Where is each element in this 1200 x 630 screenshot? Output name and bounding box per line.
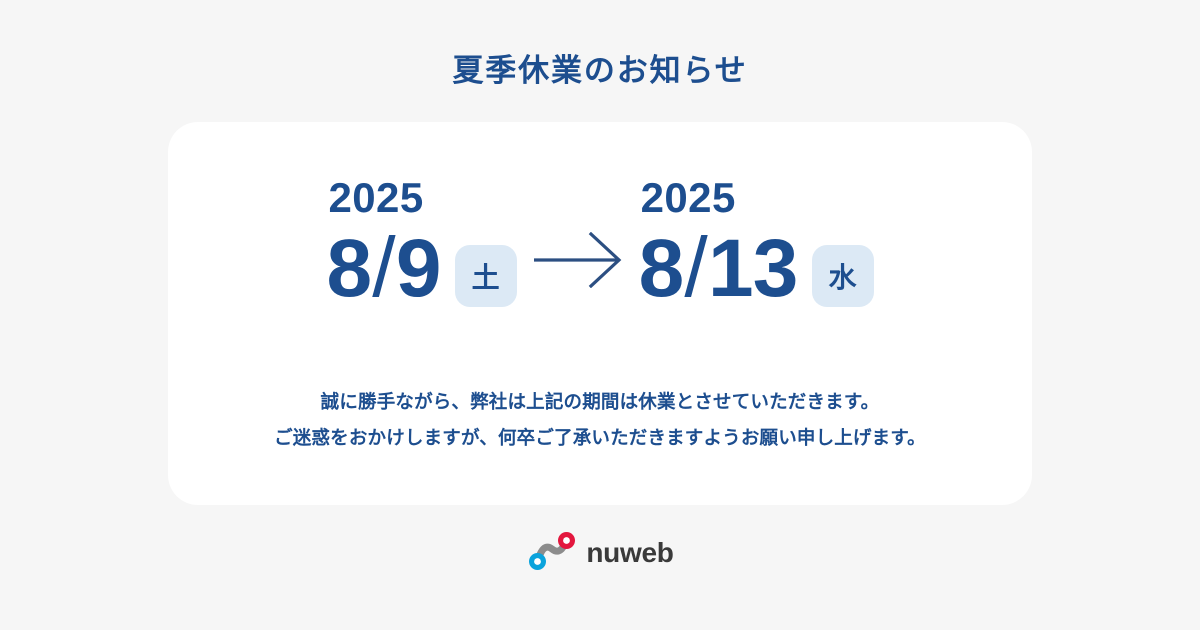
notice-card: 2025 8/9 土 2025 8/13 水 (168, 122, 1032, 505)
end-date-month: 8 (639, 223, 684, 314)
end-date-year: 2025 (639, 177, 736, 219)
nuweb-logo-mark-icon (526, 529, 580, 578)
end-date-main: 8/13 水 (639, 225, 874, 310)
start-date-year: 2025 (326, 177, 423, 219)
end-date: 2025 8/13 水 (639, 177, 874, 310)
nuweb-logo: nuweb (0, 529, 1200, 578)
arrow-right-icon (517, 210, 639, 310)
notice-text: 誠に勝手ながら、弊社は上記の期間は休業とさせていただきます。 ご迷惑をおかけしま… (168, 384, 1032, 456)
start-date-month-day: 8/9 (326, 225, 440, 310)
end-date-weekday-badge: 水 (812, 245, 874, 307)
start-date-separator: / (371, 220, 396, 314)
start-date-weekday-badge: 土 (455, 245, 517, 307)
notice-text-line-1: 誠に勝手ながら、弊社は上記の期間は休業とさせていただきます。 (168, 384, 1032, 420)
nuweb-logo-text: nuweb (586, 539, 673, 569)
start-date-month: 8 (326, 223, 371, 314)
end-date-month-day: 8/13 (639, 225, 798, 310)
start-date: 2025 8/9 土 (326, 177, 516, 310)
start-date-main: 8/9 土 (326, 225, 516, 310)
announcement-page: 夏季休業のお知らせ 2025 8/9 土 2025 (0, 0, 1200, 630)
start-date-day: 9 (396, 223, 441, 314)
notice-text-line-2: ご迷惑をおかけしますが、何卒ご了承いただきますようお願い申し上げます。 (168, 420, 1032, 456)
holiday-period: 2025 8/9 土 2025 8/13 水 (168, 177, 1032, 310)
end-date-day: 13 (708, 223, 798, 314)
page-title: 夏季休業のお知らせ (0, 52, 1200, 89)
end-date-separator: / (683, 220, 708, 314)
